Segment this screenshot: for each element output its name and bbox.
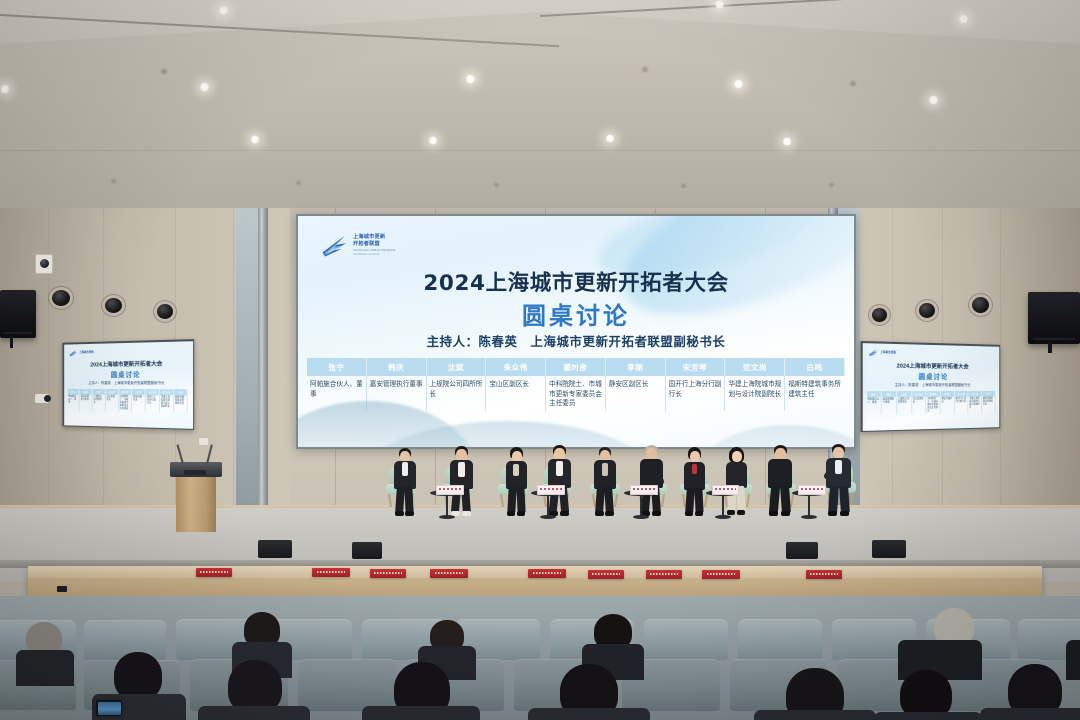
- presentation-slide: 上海城市更新 开拓者联盟 SHANGHAI URBAN RENEWAL PION…: [298, 216, 854, 447]
- alliance-logo-icon: [320, 232, 348, 258]
- ceiling-downlight: [714, 0, 725, 9]
- lectern-name-plate: [199, 438, 208, 445]
- monitor-panelist-title: 国开行上海分行副行长: [955, 397, 969, 414]
- audience-member-body: [1066, 640, 1080, 680]
- panelist-name-header: 瞿时彦: [546, 358, 606, 376]
- ceiling: [0, 0, 1080, 212]
- tablet-device: [57, 586, 67, 592]
- ceiling-downlight: [782, 137, 792, 146]
- panelist-name-header: 韩庆: [367, 358, 427, 376]
- monitor-host-line: 主持人：陈春英 上海城市更新开拓者联盟副秘书长: [862, 381, 999, 386]
- wall-speaker-port: [105, 298, 122, 313]
- dais-name-placard: [806, 570, 842, 579]
- monitor-subtitle: 圆桌讨论: [64, 368, 193, 379]
- alliance-logo-icon: [867, 347, 878, 357]
- dais-name-placard: [702, 570, 740, 579]
- dais-name-placard: [588, 570, 624, 579]
- monitor-panelist-table: 张宁韩庆沈斌朱众伟瞿时彦李刚宋芳琴范文尚白鸣阿帕施合伙人、董事嘉安管理执行董事上…: [866, 390, 995, 415]
- monitor-title: 2024上海城市更新开拓者大会: [64, 358, 193, 368]
- panelist-name-header: 范文尚: [725, 358, 785, 376]
- panelist-title-cell: 静安区副区长: [606, 376, 666, 411]
- ceiling-downlight-off: [160, 68, 168, 75]
- panelist-name-card: [798, 485, 826, 495]
- monitor-panelist-title: 阿帕施合伙人、董事: [866, 397, 881, 415]
- audience-member-body: [16, 650, 74, 686]
- audience-member-body: [754, 710, 876, 720]
- monitor-logo-text: 上海城市更新: [79, 350, 93, 354]
- dais-name-placard: [196, 568, 232, 577]
- logo-line-4: PIONEERS ALLIANCE: [353, 253, 396, 256]
- panelist-name-header: 宋芳琴: [666, 358, 726, 376]
- logo-line-2: 开拓者联盟: [353, 241, 396, 248]
- ceiling-downlight-off: [849, 80, 857, 87]
- slide-host-line: 主持人：陈春英 上海城市更新开拓者联盟副秘书长: [298, 332, 854, 350]
- left-wall-speaker: [0, 290, 36, 338]
- logo-line-3: SHANGHAI URBAN RENEWAL: [353, 249, 396, 253]
- ceiling-seam: [0, 150, 1080, 151]
- left-side-monitor: 上海城市更新 2024上海城市更新开拓者大会 圆桌讨论 主持人：陈春英 上海城市…: [62, 339, 194, 430]
- lectern-body: [176, 474, 216, 532]
- wall-speaker-port: [157, 304, 173, 319]
- slide-logo: 上海城市更新 开拓者联盟 SHANGHAI URBAN RENEWAL PION…: [320, 232, 396, 258]
- floor-monitor: [258, 540, 292, 558]
- ceiling-downlight: [733, 79, 744, 89]
- audience-seat: [738, 619, 822, 660]
- monitor-panelist-title: 静安区副区长: [132, 395, 146, 413]
- floor-monitor: [786, 542, 818, 559]
- audience-seat: [644, 619, 728, 660]
- panelist-title-cell: 国开行上海分行副行长: [666, 376, 726, 411]
- ceiling-downlight-off: [110, 178, 117, 184]
- audience-member-body: [528, 708, 650, 720]
- monitor-panelist-title: 中科院院士、市城市更新专家委员会主任委员: [119, 395, 132, 413]
- audience-member-body: [874, 712, 982, 720]
- ceiling-downlight-off: [828, 182, 835, 188]
- handheld-microphone-icon: [827, 461, 830, 469]
- monitor-host-line: 主持人：陈春英 上海城市更新开拓者联盟副秘书长: [64, 379, 193, 384]
- slide-logo-text: 上海城市更新 开拓者联盟 SHANGHAI URBAN RENEWAL PION…: [353, 234, 396, 257]
- panelist-name-card: [436, 485, 464, 495]
- panelist-title-cell: 中科院院士、市城市更新专家委员会主任委员: [546, 376, 606, 411]
- dais-name-placard: [430, 569, 468, 578]
- wall-speaker-port: [52, 290, 70, 306]
- panelist-title-cell: 嘉安管理执行董事: [367, 376, 427, 411]
- wall-speaker-port: [972, 297, 989, 313]
- monitor-logo: 上海城市更新: [68, 347, 93, 356]
- monitor-panelist-title: 国开行上海分行副行长: [146, 395, 160, 413]
- panelist-name-card: [630, 485, 658, 495]
- panelist-title-cell: 上规院公司四所所长: [427, 376, 487, 411]
- panelist-title-cell: 宝山区副区长: [486, 376, 546, 411]
- right-side-monitor: 上海城市更新 2024上海城市更新开拓者大会 圆桌讨论 主持人：陈春英 上海城市…: [861, 341, 1001, 432]
- main-led-screen: 上海城市更新 开拓者联盟 SHANGHAI URBAN RENEWAL PION…: [296, 214, 856, 449]
- monitor-panelist-title: 静安区副区长: [941, 397, 955, 414]
- dais-name-placard: [312, 568, 350, 577]
- audience-member-head: [114, 652, 162, 700]
- monitor-panelist-title: 宝山区副区长: [912, 397, 927, 415]
- stage-panelist: [504, 447, 529, 525]
- panelist-title-cell: 福斯特建筑事务所建筑主任: [785, 376, 845, 411]
- panelist-name-header: 朱众伟: [486, 358, 546, 376]
- monitor-panelist-title: 嘉安管理执行董事: [80, 395, 93, 412]
- ceiling-downlight: [0, 84, 10, 94]
- monitor-subtitle: 圆桌讨论: [862, 370, 999, 381]
- audience-phone-recording: [96, 700, 122, 716]
- panelist-name-header: 白鸣: [785, 358, 845, 376]
- monitor-panelist-table: 张宁韩庆沈斌朱众伟瞿时彦李刚宋芳琴范文尚白鸣阿帕施合伙人、董事嘉安管理执行董事上…: [67, 388, 188, 413]
- dais-name-placard: [646, 570, 682, 579]
- panelist-name-header: 张宁: [307, 358, 367, 376]
- panelist-table: 张宁韩庆沈斌朱众伟瞿时彦李刚宋芳琴范文尚白鸣阿帕施合伙人、董事嘉安管理执行董事上…: [307, 358, 845, 411]
- ceiling-downlight-off: [680, 183, 687, 189]
- panelist-name-header: 李刚: [606, 358, 666, 376]
- monitor-panelist-title: 上规院公司四所所长: [93, 395, 106, 412]
- audience-member-body: [362, 706, 480, 720]
- monitor-title: 2024上海城市更新开拓者大会: [862, 360, 999, 370]
- speaker-mount-arm: [1048, 343, 1052, 353]
- ceiling-downlight: [928, 95, 939, 105]
- ceiling-downlight-off: [295, 180, 302, 186]
- ceiling-downlight: [218, 6, 229, 15]
- speaker-mount-arm: [10, 336, 13, 348]
- stage-panelist: [392, 448, 418, 526]
- wall-camera-icon: [35, 254, 53, 274]
- monitor-panelist-title: 嘉安管理执行董事: [882, 397, 897, 415]
- panelist-name-header: 沈斌: [427, 358, 487, 376]
- audience-seat: [298, 659, 396, 711]
- alliance-logo-icon: [68, 348, 77, 357]
- wall-speaker-port: [872, 308, 887, 322]
- dais-name-placard: [370, 569, 406, 578]
- ceiling-downlight-off: [493, 182, 500, 188]
- lectern-monitor: [184, 470, 206, 475]
- panelist-name-card: [712, 485, 739, 495]
- monitor-panelist-title: 福斯特建筑事务所建筑主任: [982, 396, 995, 413]
- ceiling-downlight: [958, 14, 969, 24]
- stage-moderator: [824, 444, 854, 526]
- floor-monitor: [352, 542, 382, 559]
- monitor-logo-text: 上海城市更新: [880, 350, 896, 354]
- ptz-camera-icon: [35, 394, 49, 403]
- right-wall-speaker: [1028, 292, 1080, 344]
- stage-panelist: [766, 445, 794, 525]
- monitor-panelist-title: 上规院公司四所所长: [897, 397, 912, 415]
- panelist-title-cell: 阿帕施合伙人、董事: [307, 376, 367, 411]
- dais-name-placard: [528, 569, 566, 578]
- monitor-logo: 上海城市更新: [867, 347, 896, 357]
- ceiling-downlight: [605, 134, 615, 143]
- monitor-panelist-title: 华建上海院城市规划与设计院副院长: [160, 395, 174, 413]
- wall-speaker-port: [919, 303, 935, 318]
- monitor-panelist-title: 福斯特建筑事务所建筑主任: [174, 395, 188, 413]
- panelist-name-card: [537, 485, 565, 495]
- logo-line-1: 上海城市更新: [353, 234, 396, 241]
- ceiling-downlight: [250, 135, 260, 144]
- panelist-title-cell: 华建上海院城市规划与设计院副院长: [725, 376, 785, 411]
- ceiling-downlight: [428, 136, 438, 145]
- audience-member-body: [198, 706, 310, 720]
- ceiling-ridge-line: [0, 0, 1080, 56]
- monitor-panelist-title: 阿帕施合伙人、董事: [67, 394, 80, 411]
- stage-panelist: [592, 447, 618, 526]
- conference-hall-photo: 上海城市更新 2024上海城市更新开拓者大会 圆桌讨论 主持人：陈春英 上海城市…: [0, 0, 1080, 720]
- slide-title: 2024上海城市更新开拓者大会: [298, 266, 854, 297]
- floor-monitor: [872, 540, 906, 558]
- audience-member-body: [980, 708, 1080, 720]
- stage-panelist: [682, 447, 707, 525]
- slide-subtitle: 圆桌讨论: [298, 296, 854, 331]
- monitor-panelist-title: 华建上海院城市规划与设计院副院长: [968, 397, 982, 414]
- ceiling-downlight-off: [641, 66, 649, 73]
- monitor-panelist-title: 宝山区副区长: [106, 395, 119, 412]
- monitor-panelist-title: 中科院院士、市城市更新专家委员会主任委员: [926, 397, 940, 415]
- ceiling-downlight: [465, 74, 476, 84]
- ceiling-downlight: [199, 82, 210, 92]
